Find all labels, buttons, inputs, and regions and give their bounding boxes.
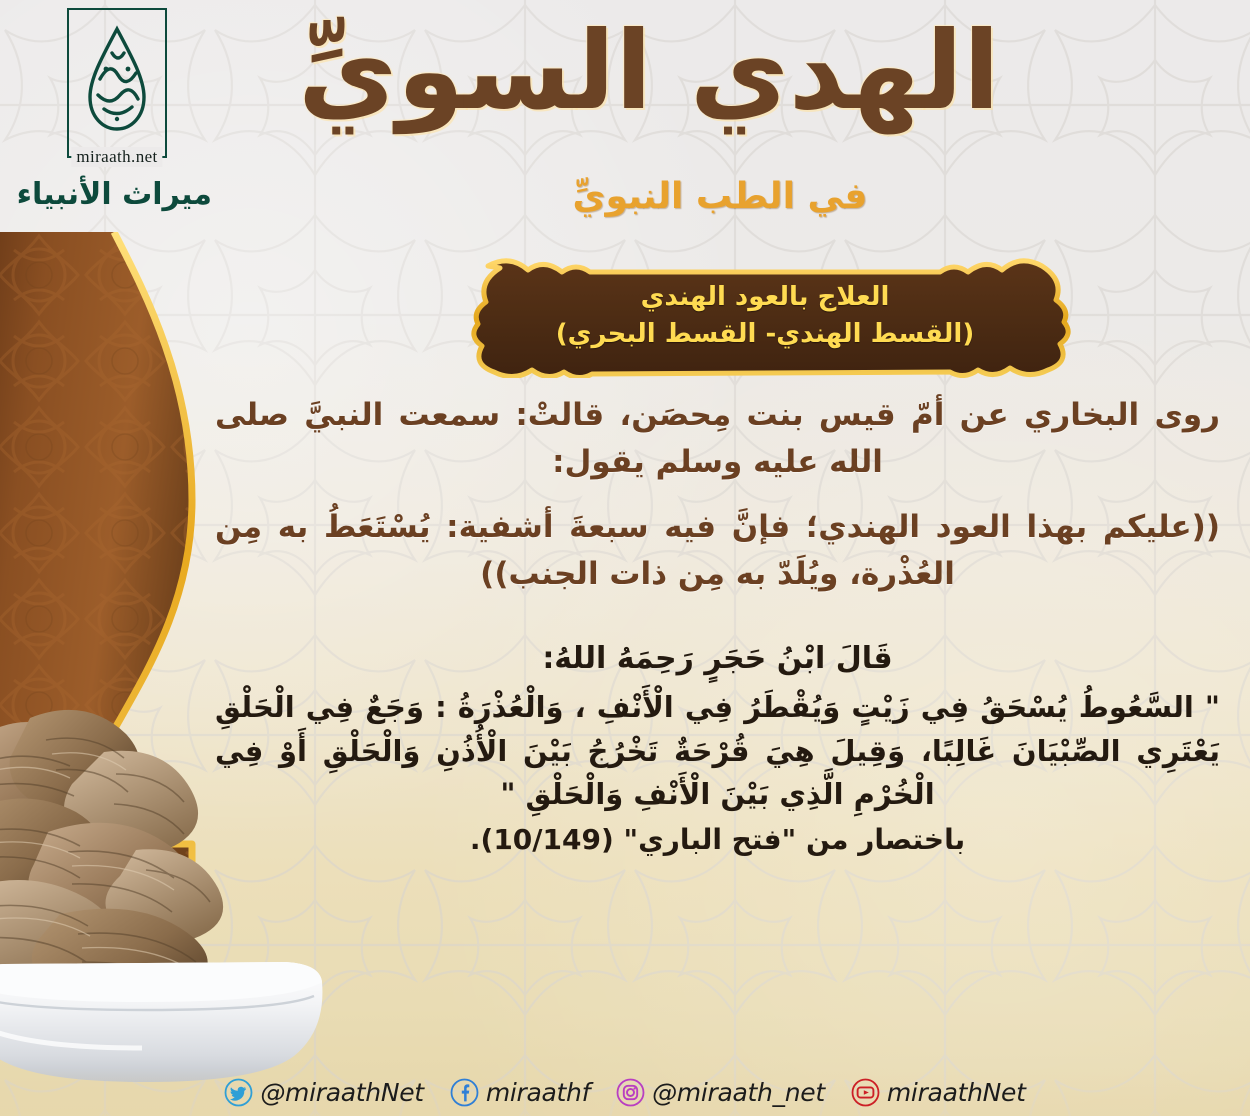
logo-arabic-text: ميراث الأنبياء [22,180,212,210]
instagram-handle[interactable]: @miraath_net [652,1078,825,1107]
social-item-facebook[interactable]: miraathf [450,1078,590,1107]
scholar-quote-attribution: قَالَ ابْنُ حَجَرٍ رَحِمَهُ اللهُ: [215,638,1220,680]
social-item-youtube[interactable]: miraathNet [851,1078,1026,1107]
scholar-quote-text: " السَّعُوطُ يُسْحَقُ فِي زَيْتٍ وَيُقْط… [215,686,1220,817]
logo-url-text: miraath.net [71,147,162,167]
banner-line-1: العلاج بالعود الهندي [641,281,890,314]
page-title: الهدي السويِّ [440,4,1000,139]
social-item-twitter[interactable]: @miraathNet [224,1078,423,1107]
topic-banner: العلاج بالعود الهندي (القسط الهندي- القس… [402,256,1128,378]
social-item-instagram[interactable]: @miraath_net [616,1078,825,1107]
youtube-icon[interactable] [851,1078,880,1107]
hadith-paragraph: ((عليكم بهذا العود الهندي؛ فإنَّ فيه سبع… [215,504,1220,598]
scholar-quote-block: قَالَ ابْنُ حَجَرٍ رَحِمَهُ اللهُ: " الس… [215,638,1220,856]
facebook-handle[interactable]: miraathf [486,1078,590,1107]
logo-frame: miraath.net [67,8,167,158]
instagram-icon[interactable] [616,1078,645,1107]
twitter-icon[interactable] [224,1078,253,1107]
banner-text-wrap: العلاج بالعود الهندي (القسط الهندي- القس… [402,256,1128,378]
twitter-handle[interactable]: @miraathNet [260,1078,423,1107]
poster-canvas: miraath.net ميراث الأنبياء الهدي السويِّ… [0,0,1250,1116]
youtube-handle[interactable]: miraathNet [887,1078,1026,1107]
banner-line-2: (القسط الهندي- القسط البحري) [556,318,974,351]
content-body: روى البخاري عن أمّ قيس بنت مِحصَن، قالتْ… [215,392,1220,856]
narration-paragraph: روى البخاري عن أمّ قيس بنت مِحصَن، قالتْ… [215,392,1220,486]
miraath-calligraphy-logo [76,23,158,143]
brand-logo[interactable]: miraath.net ميراث الأنبياء [22,8,212,210]
social-media-bar: @miraathNet miraathf @miraath_net [0,1068,1250,1116]
source-reference: باختصار من "فتح الباري" (10/149). [215,823,1220,856]
page-subtitle: في الطب النبويِّ [440,176,1000,217]
facebook-icon[interactable] [450,1078,479,1107]
page-title-text: الهدي السويِّ [440,4,1000,139]
